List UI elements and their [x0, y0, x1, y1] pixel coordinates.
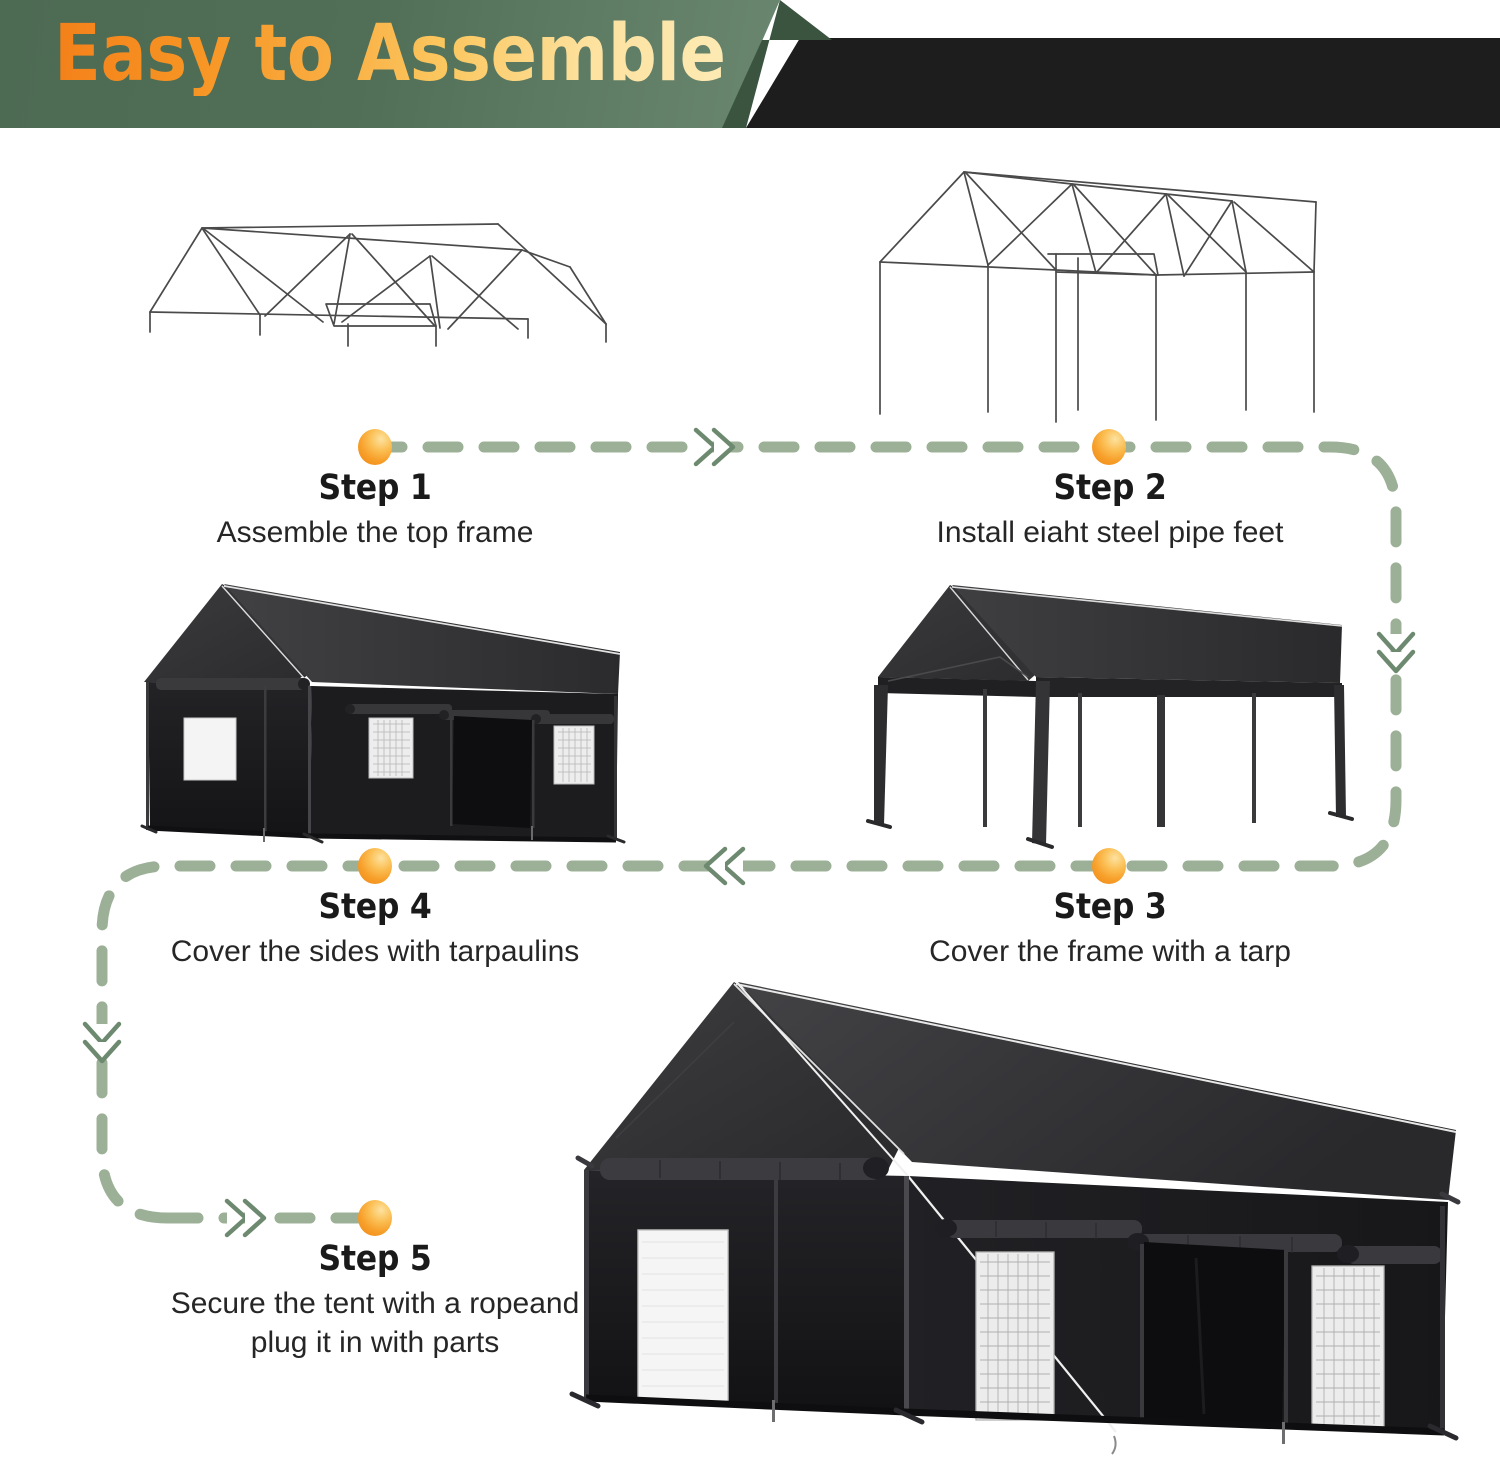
step-5-label: Step 5 Secure the tent with a ropeand pl… — [115, 1239, 635, 1362]
step-5-description: Secure the tent with a ropeand plug it i… — [115, 1285, 635, 1362]
page-title: Easy to Assemble — [54, 14, 726, 96]
chevron-down-icon-right — [1379, 634, 1413, 671]
chevron-left-icon-2 — [706, 849, 743, 883]
step-5-title: Step 5 — [141, 1239, 609, 1280]
step-4-title: Step 4 — [141, 887, 609, 928]
step-marker-dot-2 — [1092, 429, 1126, 465]
illustration-step-3 — [850, 585, 1370, 857]
step-2-description: Install eiaht steel pipe feet — [850, 514, 1370, 552]
infographic-page: Easy to Assemble — [0, 0, 1500, 1469]
step-marker-dot-1 — [358, 429, 392, 465]
step-1-label: Step 1 Assemble the top frame — [115, 468, 635, 553]
illustration-step-2 — [866, 162, 1386, 427]
step-marker-dot-3 — [1092, 848, 1126, 884]
illustration-step-5 — [556, 962, 1500, 1462]
step-4-label: Step 4 Cover the sides with tarpaulins — [115, 887, 635, 972]
step-2-title: Step 2 — [876, 468, 1344, 509]
step-marker-dot-4 — [358, 848, 392, 884]
step-3-label: Step 3 Cover the frame with a tarp — [850, 887, 1370, 972]
illustration-step-4 — [122, 578, 642, 858]
step-3-title: Step 3 — [876, 887, 1344, 928]
header-banner: Easy to Assemble — [0, 0, 1500, 140]
step-marker-dot-5 — [358, 1200, 392, 1236]
chevron-down-icon-left — [85, 1024, 119, 1061]
chevron-right-icon-3 — [227, 1201, 264, 1235]
chevron-right-icon-1 — [696, 430, 733, 464]
illustration-step-1 — [118, 212, 638, 357]
step-1-description: Assemble the top frame — [115, 514, 635, 552]
step-2-label: Step 2 Install eiaht steel pipe feet — [850, 468, 1370, 553]
step-1-title: Step 1 — [141, 468, 609, 509]
